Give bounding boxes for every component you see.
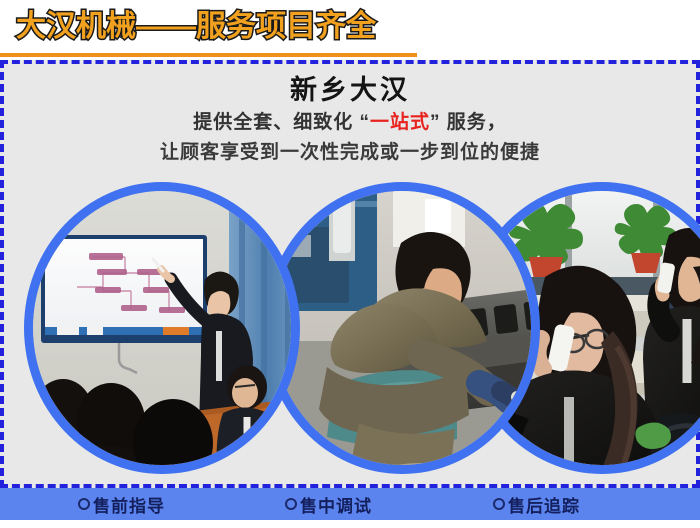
headline-block: 新乡大汉 提供全套、细致化 “一站式” 服务， 让顾客享受到一次性完成或一步到位… [0, 74, 700, 167]
photo-inner-presales-training [33, 191, 291, 465]
service-stage-presales-label: 售前指导 [93, 492, 165, 517]
title-underline-rule [0, 53, 417, 57]
tagline-highlight: 一站式 [370, 112, 430, 133]
tagline-prefix: 提供全套、细致化 “ [193, 112, 370, 133]
photo-inner-commissioning [273, 191, 531, 465]
page-title: 大汉机械——服务项目齐全 [16, 9, 376, 45]
brand-headline: 新乡大汉 [0, 74, 700, 106]
machine-commissioning-photo [273, 191, 531, 465]
training-meeting-photo [33, 191, 291, 465]
tagline-suffix: ” 服务， [430, 112, 507, 133]
service-tagline-line2: 让顾客享受到一次性完成或一步到位的便捷 [0, 137, 700, 167]
service-stage-commissioning[interactable]: 售中调试 [285, 492, 372, 517]
photo-circle-commissioning [264, 182, 540, 474]
photo-circles-row [0, 182, 700, 474]
circle-bullet-icon [78, 498, 90, 510]
service-stage-bar: 售前指导 售中调试 售后追踪 [0, 488, 700, 520]
circle-bullet-icon [493, 498, 505, 510]
service-stage-presales[interactable]: 售前指导 [78, 492, 165, 517]
header-band: 大汉机械——服务项目齐全 [0, 0, 700, 60]
service-stage-aftersales[interactable]: 售后追踪 [493, 492, 580, 517]
bottom-white-margin [0, 520, 700, 528]
photo-circle-presales-training [24, 182, 300, 474]
circle-bullet-icon [285, 498, 297, 510]
service-stage-commissioning-label: 售中调试 [300, 492, 372, 517]
service-stage-aftersales-label: 售后追踪 [508, 492, 580, 517]
promo-banner: 大汉机械——服务项目齐全 新乡大汉 提供全套、细致化 “一站式” 服务， 让顾客… [0, 0, 700, 528]
service-tagline-line1: 提供全套、细致化 “一站式” 服务， [0, 106, 700, 137]
